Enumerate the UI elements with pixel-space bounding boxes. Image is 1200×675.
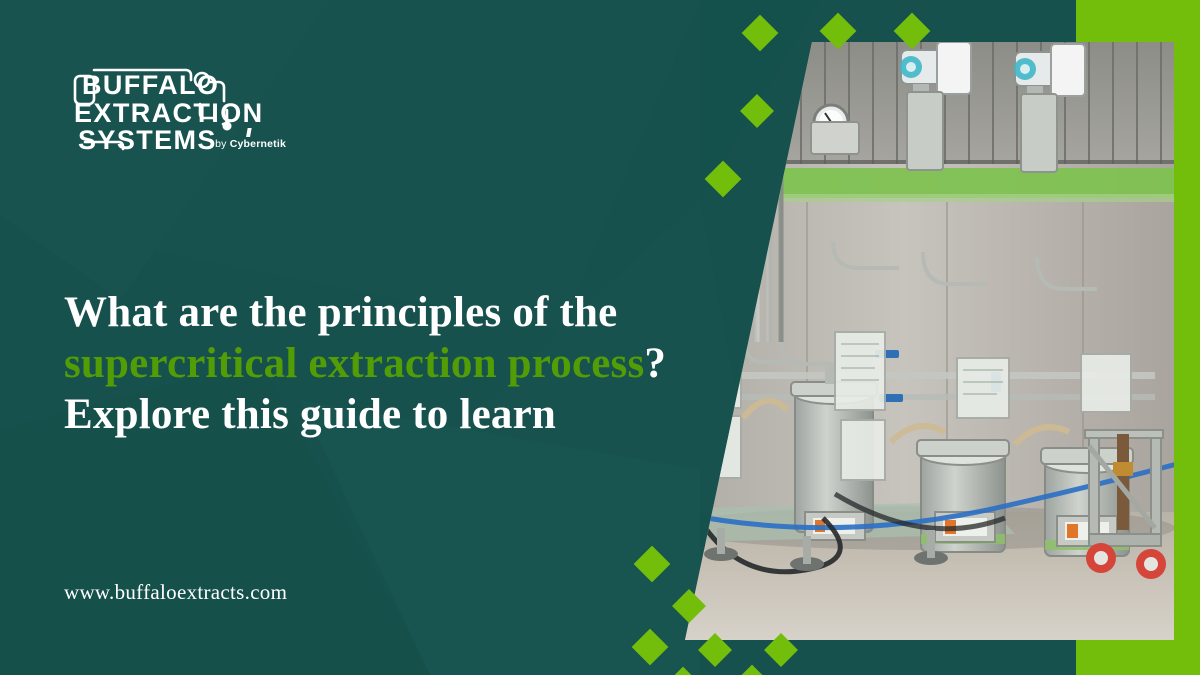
byline-name: Cybernetik — [230, 138, 286, 150]
svg-text:BUFFALO: BUFFALO — [82, 70, 219, 100]
site-url[interactable]: www.buffaloextracts.com — [64, 580, 287, 605]
brand-logo[interactable]: BUFFALO EXTRACTION SYSTEMS by Cybernetik — [64, 58, 294, 158]
byline-prefix: by — [215, 138, 230, 150]
brand-byline: by Cybernetik — [215, 138, 286, 150]
headline-question-mark: ? — [644, 340, 666, 387]
headline-accent-phrase: supercritical extraction process — [64, 340, 644, 387]
headline-line-3: Explore this guide to learn — [64, 391, 556, 438]
svg-text:SYSTEMS: SYSTEMS — [78, 125, 217, 155]
slide-canvas: BUFFALO EXTRACTION SYSTEMS by Cybernetik… — [0, 0, 1200, 675]
headline-line-1: What are the principles of the — [64, 289, 617, 336]
page-title: What are the principles of the supercrit… — [64, 287, 704, 440]
svg-text:EXTRACTION: EXTRACTION — [74, 98, 264, 128]
